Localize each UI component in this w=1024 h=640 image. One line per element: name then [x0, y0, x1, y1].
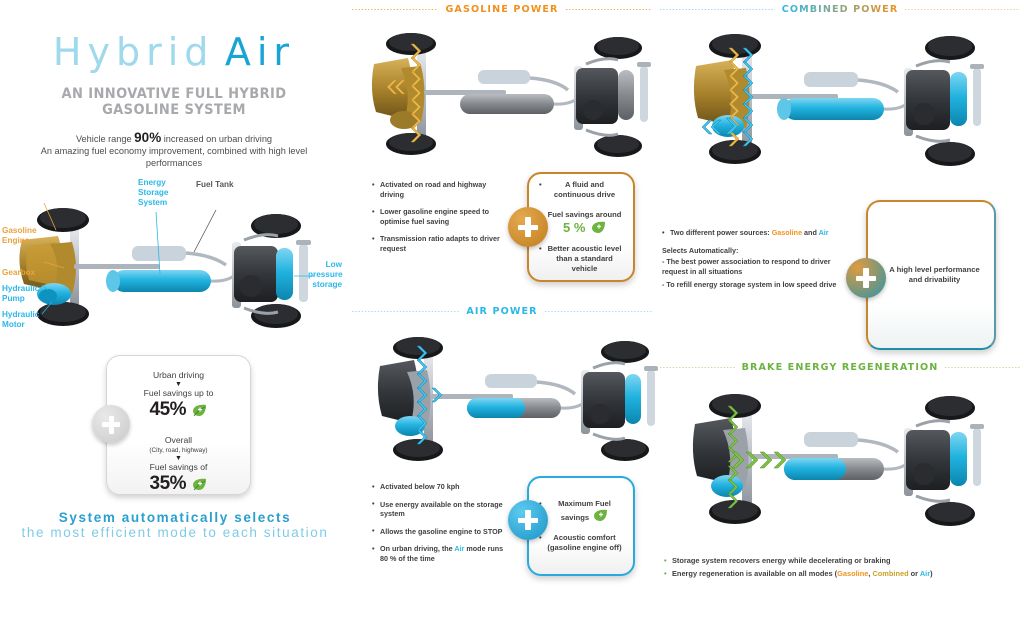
- section-header-air: AIR POWER: [352, 306, 652, 317]
- savings-block-urban: Urban driving ▼ Fuel savings up to 45%: [107, 370, 250, 421]
- savings-block-overall: Overall (City, road, highway) ▼ Fuel sav…: [107, 435, 250, 495]
- list-item: Use energy available on the storage syst…: [372, 500, 512, 519]
- diagram-combined-svg: [688, 22, 988, 182]
- lead-number: 90%: [134, 130, 161, 145]
- plus-icon-combined: [846, 258, 886, 298]
- plus-icon-air: [508, 500, 548, 540]
- hero-chassis-diagram: Gasoline Engine Gearbox Hydraulic Pump H…: [8, 190, 338, 340]
- diagram-combined-power: [688, 22, 988, 182]
- rule-right-combined: [905, 9, 1020, 10]
- list-item: Lower gasoline engine speed to optimise …: [372, 207, 512, 226]
- tagline-line-2: the most efficient mode to each situatio…: [10, 525, 340, 540]
- savings-overall-sub: (City, road, highway): [107, 446, 250, 455]
- label-gearbox: Gearbox: [2, 268, 46, 278]
- card-item: A fluid and continuous drive: [539, 180, 623, 200]
- list-item-power-sources: Two different power sources: Gasoline an…: [662, 228, 852, 238]
- rule-right-air: [545, 311, 652, 312]
- rule-right-gasoline: [566, 9, 652, 10]
- diagram-gasoline-power: [368, 22, 658, 172]
- savings-overall-value-row: 35%: [107, 473, 250, 495]
- list-item: - To refill energy storage system in low…: [662, 280, 852, 290]
- lead-pre: Vehicle range: [76, 134, 134, 144]
- diagram-brake-regen: [688, 382, 988, 542]
- combined-pre: Two different power sources:: [670, 228, 772, 237]
- leaf-icon: [192, 404, 207, 417]
- tagline: System automatically selects the most ef…: [10, 510, 340, 540]
- rule-left-brake: [660, 367, 735, 368]
- list-item: Storage system recovers energy while dec…: [664, 556, 994, 566]
- brake-sep-2: or: [909, 569, 920, 578]
- section-title-gasoline: GASOLINE POWER: [445, 4, 558, 15]
- tagline-line-1: System automatically selects: [10, 510, 340, 525]
- title-air: Air: [225, 30, 295, 74]
- plus-icon-savings: [92, 405, 130, 443]
- rule-left-combined: [660, 9, 775, 10]
- bullet-list-gasoline: Activated on road and highway driving Lo…: [372, 180, 512, 262]
- brake-mode-air: Air: [920, 569, 930, 578]
- lead-post: increased on urban driving: [161, 134, 272, 144]
- savings-overall-value: 35%: [150, 473, 187, 494]
- combined-gasoline-word: Gasoline: [772, 228, 802, 237]
- diagram-gasoline-svg: [368, 22, 658, 172]
- section-header-gasoline: GASOLINE POWER: [352, 4, 652, 15]
- list-item: Activated below 70 kph: [372, 482, 512, 492]
- label-fuel-tank: Fuel Tank: [196, 180, 246, 190]
- subtitle-line-1: AN INNOVATIVE FULL HYBRID: [24, 86, 324, 102]
- savings-urban-value: 45%: [150, 399, 187, 420]
- left-panel: Hybrid Air AN INNOVATIVE FULL HYBRID GAS…: [0, 0, 348, 640]
- label-hydraulic-motor: Hydraulic Motor: [2, 310, 42, 330]
- list-item: Allows the gasoline engine to STOP: [372, 527, 512, 537]
- section-title-brake: BRAKE ENERGY REGENERATION: [742, 362, 939, 373]
- leaf-icon-air: [593, 509, 608, 522]
- combined-sub-heading: Selects Automatically:: [662, 246, 852, 256]
- leaf-icon-gasoline: [591, 221, 606, 234]
- section-header-combined: COMBINED POWER: [660, 4, 1020, 15]
- label-hydraulic-pump: Hydraulic Pump: [2, 284, 42, 304]
- list-item: Transmission ratio adapts to driver requ…: [372, 234, 512, 253]
- rule-left-air: [352, 311, 459, 312]
- bullet-list-air: Activated below 70 kph Use energy availa…: [372, 482, 512, 572]
- brake-mode-gasoline: Gasoline: [837, 569, 868, 578]
- triangle-down-icon: ▼: [107, 381, 250, 388]
- card-item-savings-label: Fuel savings around: [548, 210, 622, 219]
- air-bullet-air-word: Air: [454, 544, 464, 553]
- list-item: Activated on road and highway driving: [372, 180, 512, 199]
- label-low-pressure-storage: Low pressure storage: [308, 260, 342, 290]
- plus-icon-gasoline: [508, 207, 548, 247]
- combined-air-word: Air: [819, 228, 829, 237]
- card-item: Acoustic comfort (gasoline engine off): [539, 533, 623, 553]
- combined-mid: and: [802, 228, 819, 237]
- page-title: Hybrid Air: [0, 30, 348, 74]
- lead-paragraph: Vehicle range 90% increased on urban dri…: [14, 132, 334, 169]
- subtitle-line-2: GASOLINE SYSTEM: [24, 102, 324, 118]
- diagram-air-svg: [375, 326, 665, 476]
- card-item: A high level performance and drivability: [878, 265, 984, 285]
- lead-line-2: An amazing fuel economy improvement, com…: [14, 145, 334, 169]
- savings-urban-label: Fuel savings up to: [107, 388, 250, 399]
- card-item-savings-value: 5 %: [548, 221, 622, 234]
- section-title-air: AIR POWER: [466, 306, 537, 317]
- air-bullet-pre: On urban driving, the: [380, 544, 454, 553]
- savings-overall-title: Overall: [107, 435, 250, 446]
- leaf-icon-2: [192, 478, 207, 491]
- savings-overall-label: Fuel savings of: [107, 462, 250, 473]
- triangle-down-icon-2: ▼: [107, 455, 250, 462]
- rule-left-gasoline: [352, 9, 438, 10]
- brake-note2-pre: Energy regeneration is available on all …: [672, 569, 837, 578]
- brake-note2-post: ): [930, 569, 932, 578]
- label-gasoline-engine: Gasoline Engine: [2, 226, 42, 246]
- bullet-list-brake: Storage system recovers energy while dec…: [664, 556, 994, 582]
- card-item-savings: Fuel savings around 5 %: [541, 210, 622, 234]
- page-subtitle: AN INNOVATIVE FULL HYBRID GASOLINE SYSTE…: [24, 86, 324, 118]
- section-title-combined: COMBINED POWER: [782, 4, 899, 15]
- label-energy-storage: Energy Storage System: [138, 178, 178, 208]
- card-item-max-savings: Maximum Fuel savings: [539, 499, 623, 523]
- hero-leader-lines: [8, 190, 338, 340]
- diagram-air-power: [375, 326, 665, 476]
- diagram-brake-svg: [688, 382, 988, 542]
- brake-mode-combined: Combined: [872, 569, 908, 578]
- savings-urban-title: Urban driving: [107, 370, 250, 381]
- lead-line-1: Vehicle range 90% increased on urban dri…: [14, 132, 334, 145]
- title-hybrid: Hybrid: [53, 30, 215, 74]
- bullet-list-combined: Two different power sources: Gasoline an…: [662, 228, 852, 294]
- card-item: Better acoustic level than a standard ve…: [539, 244, 623, 274]
- infographic-canvas: Hybrid Air AN INNOVATIVE FULL HYBRID GAS…: [0, 0, 1024, 640]
- list-item-modes: Energy regeneration is available on all …: [664, 569, 994, 579]
- gasoline-savings-pct: 5 %: [563, 220, 585, 235]
- section-header-brake: BRAKE ENERGY REGENERATION: [660, 362, 1020, 373]
- rule-right-brake: [945, 367, 1020, 368]
- list-item-air-mode: On urban driving, the Air mode runs 80 %…: [372, 544, 512, 563]
- list-item: - The best power association to respond …: [662, 257, 852, 276]
